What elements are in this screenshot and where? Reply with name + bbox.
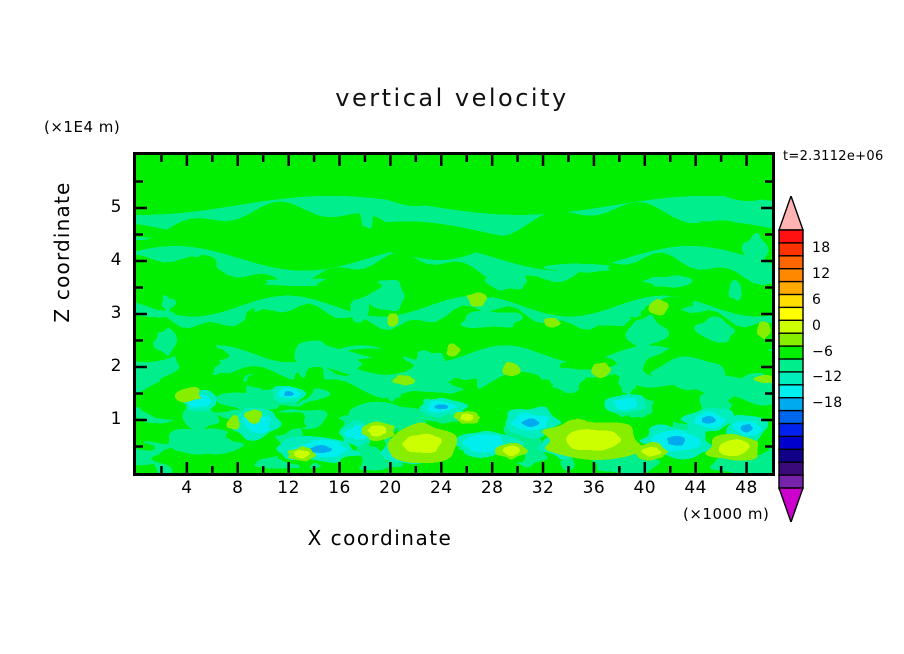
axis-ticks [133, 152, 775, 476]
x-tick-label: 4 [167, 478, 207, 498]
colorbar-tick-label: 6 [812, 292, 821, 308]
x-tick-label: 12 [269, 478, 309, 498]
y-tick-label: 5 [96, 197, 122, 217]
colorbar-tick-label: −12 [812, 369, 842, 385]
timestamp-annotation: t=2.3112e+06 [783, 149, 884, 164]
x-tick-label: 36 [574, 478, 614, 498]
x-tick-label: 32 [523, 478, 563, 498]
x-axis-unit-label: (×1000 m) [683, 505, 769, 523]
colorbar-tick-label: 18 [812, 240, 830, 256]
chart-title: vertical velocity [0, 84, 904, 112]
x-axis-title: X coordinate [0, 526, 760, 550]
colorbar-tick-label: −6 [812, 344, 833, 360]
y-tick-label: 3 [96, 303, 122, 323]
y-axis-unit-label: (×1E4 m) [44, 118, 120, 136]
y-axis-title: Z coordinate [50, 172, 74, 332]
x-tick-label: 8 [218, 478, 258, 498]
x-tick-label: 48 [727, 478, 767, 498]
x-tick-label: 28 [472, 478, 512, 498]
y-tick-label: 4 [96, 250, 122, 270]
x-tick-label: 16 [320, 478, 360, 498]
x-tick-label: 24 [421, 478, 461, 498]
y-tick-label: 1 [96, 409, 122, 429]
y-tick-label: 2 [96, 356, 122, 376]
x-tick-label: 20 [370, 478, 410, 498]
colorbar-tick-label: 0 [812, 318, 821, 334]
colorbar-tick-label: −18 [812, 395, 842, 411]
x-tick-label: 40 [625, 478, 665, 498]
colorbar [776, 196, 806, 522]
colorbar-tick-label: 12 [812, 266, 830, 282]
x-tick-label: 44 [676, 478, 716, 498]
